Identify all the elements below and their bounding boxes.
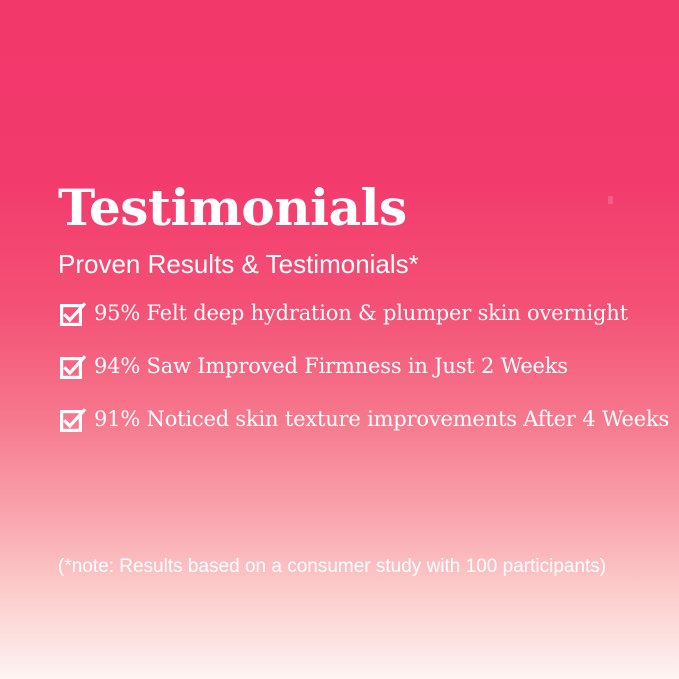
list-item-label: 95% Felt deep hydration & plumper skin o… <box>94 300 628 326</box>
testimonials-poster: Testimonials Proven Results & Testimonia… <box>0 0 679 679</box>
checked-checkbox-icon <box>60 410 82 432</box>
checked-checkbox-icon <box>60 304 82 326</box>
list-item: 95% Felt deep hydration & plumper skin o… <box>60 300 660 353</box>
page-subtitle: Proven Results & Testimonials* <box>58 248 419 280</box>
list-item: 94% Saw Improved Firmness in Just 2 Week… <box>60 353 660 406</box>
page-title: Testimonials <box>58 180 407 236</box>
results-checklist: 95% Felt deep hydration & plumper skin o… <box>60 300 660 459</box>
list-item-label: 94% Saw Improved Firmness in Just 2 Week… <box>94 353 568 379</box>
checked-checkbox-icon <box>60 357 82 379</box>
decorative-speck <box>608 196 613 204</box>
study-footnote: (*note: Results based on a consumer stud… <box>58 555 606 579</box>
list-item: 91% Noticed skin texture improvements Af… <box>60 406 660 459</box>
list-item-label: 91% Noticed skin texture improvements Af… <box>94 406 669 432</box>
